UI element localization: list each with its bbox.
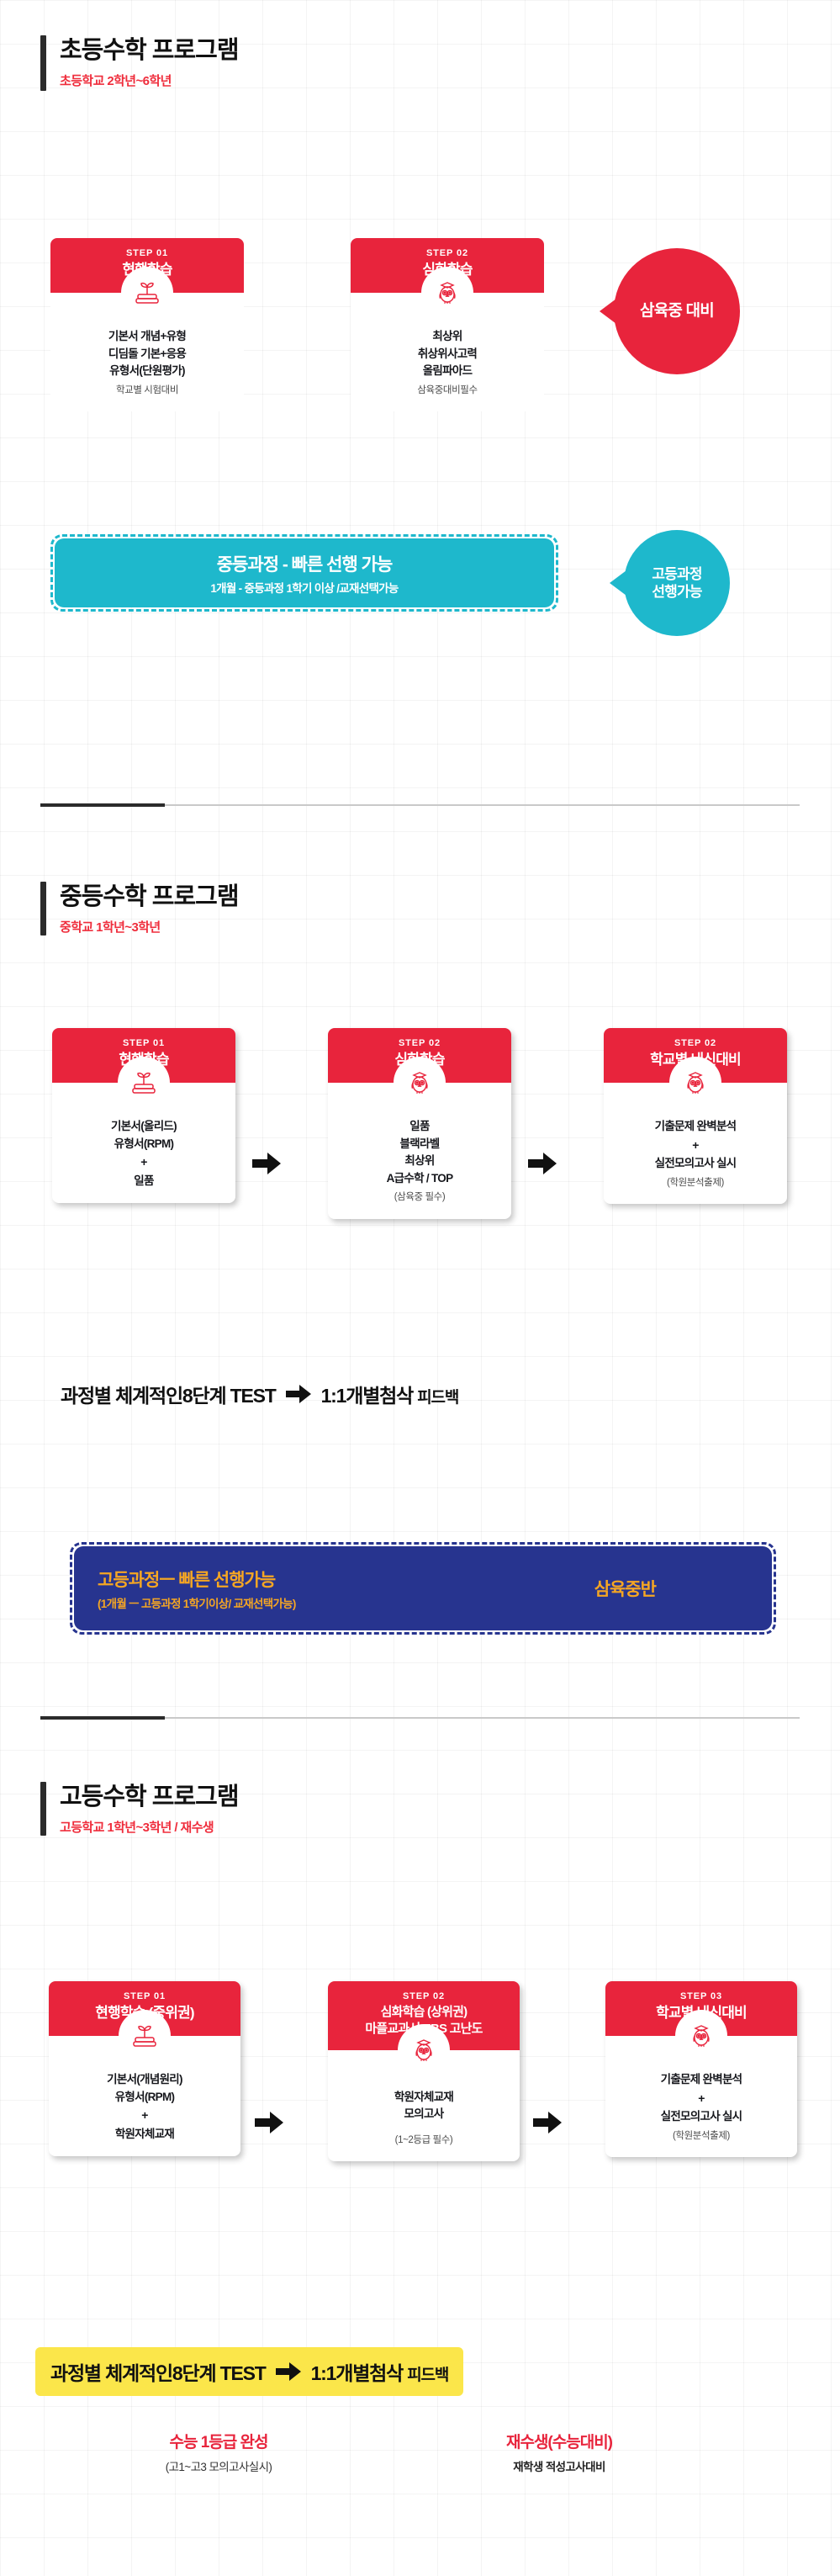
banner-title: 중등과정 - 빠른 선행 가능 bbox=[55, 551, 554, 576]
flow-arrow-icon-4 bbox=[533, 2112, 562, 2133]
owl-graduate-icon bbox=[675, 2010, 727, 2062]
test-feedback-row-middle: 과정별 체계적인8단계 TEST 1:1개별첨삭 피드백 bbox=[61, 1380, 458, 1408]
flow-arrow-icon-3 bbox=[255, 2112, 283, 2133]
card-note: 삼육중대비필수 bbox=[357, 384, 537, 398]
flow-arrow-icon-1 bbox=[252, 1153, 281, 1174]
step-card-middle-1[interactable]: STEP 01 현행학습 기본서(올리드) 유형서(RPM) + 일품 bbox=[52, 1028, 235, 1203]
right-arrow-icon bbox=[286, 1385, 311, 1403]
card-line: 기본서 개념+유형 bbox=[57, 328, 237, 346]
note-title: 수능 1등급 완성 bbox=[92, 2430, 345, 2452]
owl-graduate-icon bbox=[398, 2024, 450, 2076]
step-card-high-1[interactable]: STEP 01 현행학습 (중위권) 기본서(개념원리) 유형서(RPM) + … bbox=[49, 1981, 240, 2156]
step-number: STEP 01 bbox=[57, 1037, 230, 1049]
page-subtitle-middle: 중학교 1학년~3학년 bbox=[60, 918, 239, 936]
card-line: 디딤돌 기본+응용 bbox=[57, 346, 237, 363]
step-number: STEP 01 bbox=[55, 247, 239, 259]
page-subtitle-high: 고등학교 1학년~3학년 / 재수생 bbox=[60, 1818, 239, 1836]
step-card-elementary-1[interactable]: STEP 01 현행학습 기본서 개념+유형 디딤돌 기본+응용 유형서(단원평… bbox=[50, 238, 244, 411]
card-line: 학원자체교재 bbox=[335, 2089, 513, 2107]
heading-accent-bar bbox=[40, 882, 46, 936]
card-line: 최상위 bbox=[357, 328, 537, 346]
section-divider-2 bbox=[40, 1716, 800, 1720]
feedback-strong: 1:1개별첨삭 bbox=[321, 1385, 413, 1407]
page-subtitle-elementary: 초등학교 2학년~6학년 bbox=[60, 72, 239, 89]
right-arrow-icon bbox=[276, 2362, 301, 2381]
banner-elementary: 중등과정 - 빠른 선행 가능 1개월 - 중등과정 1학기 이상 /교재선택가… bbox=[55, 538, 554, 607]
card-line: 일품 bbox=[335, 1118, 505, 1136]
card-line: 취상위사고력 bbox=[357, 346, 537, 363]
card-line: A급수학 / TOP bbox=[335, 1170, 505, 1188]
page-title-high: 고등수학 프로그램 bbox=[60, 1783, 239, 1812]
card-note: (1~2등급 필수) bbox=[335, 2133, 513, 2148]
step-number: STEP 02 bbox=[356, 247, 539, 259]
status-badge-elementary: 삼육중 대비 bbox=[614, 248, 740, 374]
step-card-header: STEP 02 심화학습 bbox=[328, 1028, 511, 1083]
owl-graduate-icon bbox=[421, 267, 473, 319]
section-header-high: 고등수학 프로그램 고등학교 1학년~3학년 / 재수생 bbox=[40, 1782, 239, 1836]
page-title-elementary: 초등수학 프로그램 bbox=[60, 36, 239, 66]
card-line: 기출문제 완벽분석 bbox=[612, 2071, 790, 2089]
card-line: 블랙라벨 bbox=[335, 1136, 505, 1153]
step-number: STEP 03 bbox=[610, 1990, 792, 2002]
test-label: 과정별 체계적인8단계 TEST bbox=[50, 2357, 266, 2386]
step-number: STEP 02 bbox=[333, 1037, 506, 1049]
step-card-header: STEP 02 심화학습 (상위권) 마플교과서 EBS 고난도 bbox=[328, 1981, 520, 2050]
step-card-elementary-2[interactable]: STEP 02 심화학습 최상위 취상위사고력 올림파아드 bbox=[351, 238, 544, 411]
card-line: 유형서(RPM) bbox=[59, 1136, 229, 1153]
step-card-high-3[interactable]: STEP 03 학교별 내신대비 기출문제 완벽분석 + 실전모의고사 bbox=[605, 1981, 797, 2157]
bottom-note-2: 재수생(수능대비) 재학생 적성고사대비 bbox=[420, 2430, 698, 2474]
card-note: 학교별 시험대비 bbox=[57, 384, 237, 398]
card-line: 기본서(개념원리) bbox=[55, 2071, 234, 2089]
step-number: STEP 02 bbox=[333, 1990, 515, 2002]
step-number: STEP 01 bbox=[54, 1990, 235, 2002]
sprout-books-icon bbox=[121, 267, 173, 319]
card-line-plus: + bbox=[612, 2089, 790, 2109]
step-card-header: STEP 01 현행학습 bbox=[52, 1028, 235, 1083]
badge-label-line1: 고등과정 bbox=[652, 565, 701, 583]
test-label: 과정별 체계적인8단계 TEST bbox=[61, 1380, 276, 1408]
sprout-books-icon bbox=[119, 2010, 171, 2062]
feedback-label: 1:1개별첨삭 피드백 bbox=[321, 1380, 459, 1408]
step-card-header: STEP 03 학교별 내신대비 bbox=[605, 1981, 797, 2036]
banner-right-label: 삼육중반 bbox=[594, 1576, 748, 1601]
card-line: 일품 bbox=[59, 1173, 229, 1190]
card-line: 모의고사 bbox=[335, 2106, 513, 2123]
note-subtitle: 재학생 적성고사대비 bbox=[420, 2457, 698, 2474]
card-line: 실전모의고사 실시 bbox=[610, 1155, 780, 1173]
card-line-plus: + bbox=[610, 1136, 780, 1156]
infographic-page: 초등수학 프로그램 초등학교 2학년~6학년 STEP 01 현행학습 기본서 … bbox=[0, 0, 840, 2576]
step-card-header: STEP 01 현행학습 (중위권) bbox=[49, 1981, 240, 2036]
feedback-strong: 1:1개별첨삭 bbox=[311, 2362, 403, 2384]
flow-arrow-icon-2 bbox=[528, 1153, 557, 1174]
heading-accent-bar bbox=[40, 1782, 46, 1836]
note-subtitle: (고1~고3 모의고사실시) bbox=[92, 2457, 345, 2474]
section-header-middle: 중등수학 프로그램 중학교 1학년~3학년 bbox=[40, 882, 239, 936]
sprout-books-icon bbox=[118, 1057, 170, 1109]
page-title-middle: 중등수학 프로그램 bbox=[60, 883, 239, 912]
step-card-header: STEP 02 심화학습 bbox=[351, 238, 544, 293]
banner-subtitle: (1개월 ㅡ 고등과정 1학기이상/ 교재선택가능) bbox=[98, 1594, 594, 1611]
badge-label: 삼육중 대비 bbox=[640, 301, 714, 321]
card-line: 기출문제 완벽분석 bbox=[610, 1118, 780, 1136]
banner-title: 고등과정ㅡ 빠른 선행가능 bbox=[98, 1566, 594, 1592]
feedback-light: 피드백 bbox=[407, 2367, 448, 2384]
status-badge-advance: 고등과정 선행가능 bbox=[624, 530, 730, 636]
step-name: 심화학습 (상위권) bbox=[333, 2005, 515, 2020]
card-line: 올림파아드 bbox=[357, 363, 537, 380]
card-note: (학원분석출제) bbox=[610, 1176, 780, 1190]
card-line: 기본서(올리드) bbox=[59, 1118, 229, 1136]
banner-middle: 고등과정ㅡ 빠른 선행가능 (1개월 ㅡ 고등과정 1학기이상/ 교재선택가능)… bbox=[74, 1546, 772, 1630]
bottom-note-1: 수능 1등급 완성 (고1~고3 모의고사실시) bbox=[92, 2430, 345, 2474]
section-header-elementary: 초등수학 프로그램 초등학교 2학년~6학년 bbox=[40, 35, 239, 91]
badge-label-line2: 선행가능 bbox=[652, 583, 701, 601]
feedback-label: 1:1개별첨삭 피드백 bbox=[311, 2357, 449, 2386]
section-divider-1 bbox=[40, 803, 800, 807]
owl-graduate-icon bbox=[394, 1057, 446, 1109]
owl-graduate-icon bbox=[669, 1057, 721, 1109]
heading-accent-bar bbox=[40, 35, 46, 91]
step-card-high-2[interactable]: STEP 02 심화학습 (상위권) 마플교과서 EBS 고난도 학원자체교재 bbox=[328, 1981, 520, 2161]
card-note: (삼육중 필수) bbox=[335, 1190, 505, 1205]
card-line: 실전모의고사 실시 bbox=[612, 2108, 790, 2126]
card-note: (학원분석출제) bbox=[612, 2129, 790, 2144]
card-line: 유형서(단원평가) bbox=[57, 363, 237, 380]
step-number: STEP 02 bbox=[609, 1037, 782, 1049]
card-line-plus: + bbox=[59, 1153, 229, 1173]
card-line: 최상위 bbox=[335, 1153, 505, 1170]
banner-subtitle: 1개월 - 중등과정 1학기 이상 /교재선택가능 bbox=[55, 579, 554, 596]
step-card-middle-3[interactable]: STEP 02 학교별 내신대비 기출문제 완벽분석 + 실전모의고사 bbox=[604, 1028, 787, 1204]
test-feedback-row-high: 과정별 체계적인8단계 TEST 1:1개별첨삭 피드백 bbox=[35, 2347, 463, 2396]
card-line-plus: + bbox=[55, 2106, 234, 2126]
feedback-light: 피드백 bbox=[417, 1389, 458, 1407]
step-card-header: STEP 02 학교별 내신대비 bbox=[604, 1028, 787, 1083]
note-title: 재수생(수능대비) bbox=[420, 2430, 698, 2452]
card-line: 학원자체교재 bbox=[55, 2126, 234, 2144]
step-card-middle-2[interactable]: STEP 02 심화학습 일품 블랙라벨 최상위 A급수학 bbox=[328, 1028, 511, 1219]
step-card-header: STEP 01 현행학습 bbox=[50, 238, 244, 293]
card-line: 유형서(RPM) bbox=[55, 2089, 234, 2107]
